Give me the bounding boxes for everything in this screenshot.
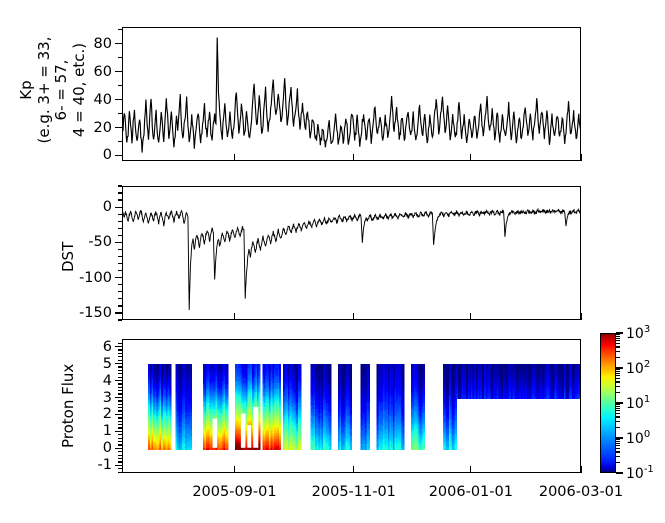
proton-flux-data-gap (213, 419, 218, 448)
pf-ytick-minor (118, 441, 122, 442)
dst-ytick-major-1 (115, 242, 122, 243)
pf-ytick-minor (118, 421, 122, 422)
colorbar-tick-minor (616, 334, 620, 335)
dst-plot-panel (122, 186, 581, 320)
colorbar-tick-minor (616, 386, 620, 387)
kp-ytick-label-1: 20 (72, 120, 112, 135)
proton-flux-plot-panel (122, 339, 581, 473)
dst-ytick-minor (118, 228, 122, 229)
dst-ytick-label-1: -50 (72, 235, 112, 250)
xtick-label-1: 2005-11-01 (312, 485, 396, 500)
dst-series-line (123, 187, 580, 319)
dst-xtick-3 (580, 313, 581, 320)
proton-flux-spectrogram (123, 340, 580, 472)
kp-ytick-minor (118, 57, 122, 58)
colorbar-tick-minor (616, 373, 620, 374)
pf-ytick-minor (118, 404, 122, 405)
colorbar-tick-minor (616, 336, 620, 337)
colorbar-tick-minor (616, 338, 620, 339)
colorbar-tick-minor (616, 416, 620, 417)
pf-ytick-label-7: -1 (72, 458, 112, 473)
proton-flux-data-gap (253, 407, 258, 448)
kp-ytick-major-4 (115, 43, 122, 44)
dst-ytick-minor (118, 284, 122, 285)
pf-ytick-major-0 (115, 346, 122, 347)
pf-ytick-minor (118, 407, 122, 408)
kp-axis-title-line-2: (e.g. 3+ = 33, (36, 20, 54, 160)
pf-ytick-minor (118, 458, 122, 459)
proton-flux-column (148, 364, 171, 450)
kp-xtick-0 (234, 154, 235, 161)
colorbar-tick-minor (616, 392, 620, 393)
pf-ytick-minor (118, 472, 122, 473)
pf-ytick-minor (118, 400, 122, 401)
colorbar-tick-minor (616, 351, 620, 352)
colorbar-tick-minor (616, 369, 620, 370)
pf-ytick-major-7 (115, 465, 122, 466)
colorbar-tick-label-4: 103 (626, 325, 650, 341)
colorbar-tick-label-2: 101 (626, 395, 650, 411)
colorbar-tick-minor (616, 462, 620, 463)
dst-ytick-label-2: -100 (72, 270, 112, 285)
dst-xtick-2 (470, 313, 471, 320)
kp-ytick-minor (118, 141, 122, 142)
pf-ytick-minor (118, 383, 122, 384)
dst-ytick-minor (118, 256, 122, 257)
pf-ytick-minor (118, 424, 122, 425)
dst-ytick-minor (118, 199, 122, 200)
proton-flux-column (262, 364, 281, 450)
xtick-label-0: 2005-09-01 (192, 485, 276, 500)
proton-flux-column (411, 364, 425, 450)
dst-ytick-minor (118, 214, 122, 215)
pf-ytick-major-3 (115, 397, 122, 398)
kp-ytick-major-1 (115, 127, 122, 128)
dst-ytick-minor (118, 305, 122, 306)
colorbar-tick-minor (616, 343, 620, 344)
kp-ytick-label-2: 40 (72, 92, 112, 107)
colorbar-tick-minor (616, 378, 620, 379)
pf-ytick-minor (118, 370, 122, 371)
pf-ytick-minor (118, 366, 122, 367)
kp-ytick-major-2 (115, 99, 122, 100)
colorbar-tick-minor (616, 381, 620, 382)
colorbar-tick-minor (616, 375, 620, 376)
pf-ytick-label-0: 6 (72, 339, 112, 354)
colorbar-tick-minor (616, 371, 620, 372)
colorbar-tick-minor (616, 427, 620, 428)
proton-flux-column (176, 364, 192, 450)
pf-xtick-1 (353, 466, 354, 473)
kp-ytick-minor (118, 29, 122, 30)
dst-ytick-minor (118, 185, 122, 186)
colorbar-tick-minor (616, 406, 620, 407)
dst-ytick-minor (118, 263, 122, 264)
proton-flux-column (283, 364, 302, 450)
colorbar-tick-minor (616, 456, 620, 457)
pf-ytick-minor (118, 356, 122, 357)
proton-flux-column (361, 364, 371, 450)
dst-ytick-major-3 (115, 312, 122, 313)
pf-ytick-label-3: 3 (72, 390, 112, 405)
colorbar-tick-minor (616, 346, 620, 347)
colorbar-tick-minor (616, 421, 620, 422)
kp-axis-title-line-1: Kp (18, 20, 36, 160)
dst-trace (123, 209, 580, 310)
dst-ytick-label-0: 0 (72, 200, 112, 215)
colorbar-tick-minor (616, 443, 620, 444)
pf-ytick-minor (118, 438, 122, 439)
proton-flux-column (310, 364, 331, 450)
colorbar-tick-minor (616, 413, 620, 414)
pf-ytick-label-2: 4 (72, 373, 112, 388)
pf-ytick-major-2 (115, 380, 122, 381)
dst-xtick-1 (353, 313, 354, 320)
dst-ytick-major-0 (115, 207, 122, 208)
kp-xtick-2 (470, 154, 471, 161)
pf-xtick-2 (470, 466, 471, 473)
pf-ytick-minor (118, 377, 122, 378)
pf-ytick-minor (118, 444, 122, 445)
kp-ytick-label-3: 60 (72, 64, 112, 79)
pf-ytick-minor (118, 393, 122, 394)
kp-xtick-1 (353, 154, 354, 161)
pf-ytick-minor (118, 461, 122, 462)
pf-xtick-0 (234, 466, 235, 473)
colorbar-tick-label-1: 100 (626, 430, 650, 446)
proton-flux-column (377, 364, 405, 450)
pf-ytick-minor (118, 360, 122, 361)
pf-ytick-major-1 (115, 363, 122, 364)
colorbar-tick-minor (616, 451, 620, 452)
pf-ytick-minor (118, 468, 122, 469)
kp-trace (123, 38, 580, 153)
colorbar-tick-label-0: 10-1 (626, 465, 654, 481)
xtick-label-3: 2006-03-01 (539, 485, 623, 500)
colorbar-tick-minor (616, 357, 620, 358)
pf-ytick-label-6: 0 (72, 441, 112, 456)
pf-ytick-label-1: 5 (72, 356, 112, 371)
kp-ytick-minor (118, 85, 122, 86)
proton-flux-column (443, 364, 457, 450)
dst-ytick-minor (118, 270, 122, 271)
pf-ytick-minor (118, 390, 122, 391)
kp-ytick-major-3 (115, 71, 122, 72)
dst-ytick-minor (118, 235, 122, 236)
pf-ytick-major-4 (115, 414, 122, 415)
proton-flux-column (457, 364, 580, 399)
pf-ytick-minor (118, 387, 122, 388)
pf-ytick-minor (118, 410, 122, 411)
kp-ytick-major-0 (115, 155, 122, 156)
xtick-label-2: 2006-01-01 (429, 485, 513, 500)
dst-xtick-0 (234, 313, 235, 320)
pf-ytick-label-4: 2 (72, 407, 112, 422)
colorbar-tick-minor (616, 410, 620, 411)
colorbar-tick-label-3: 102 (626, 360, 650, 376)
dst-ytick-minor (118, 249, 122, 250)
colorbar (600, 333, 616, 473)
proton-flux-data-gap (241, 414, 246, 448)
kp-ytick-minor (118, 113, 122, 114)
dst-ytick-minor (118, 221, 122, 222)
dst-ytick-minor (118, 319, 122, 320)
colorbar-tick-minor (616, 408, 620, 409)
colorbar-tick-minor (616, 448, 620, 449)
pf-ytick-minor (118, 417, 122, 418)
dst-ytick-minor (118, 298, 122, 299)
pf-ytick-label-5: 1 (72, 424, 112, 439)
dst-ytick-major-2 (115, 277, 122, 278)
pf-ytick-minor (118, 455, 122, 456)
colorbar-tick-minor (616, 404, 620, 405)
pf-ytick-minor (118, 343, 122, 344)
pf-ytick-minor (118, 434, 122, 435)
dst-ytick-minor (118, 192, 122, 193)
kp-plot-panel (122, 27, 581, 161)
proton-flux-data-gap (247, 425, 251, 448)
dst-ytick-label-3: -150 (72, 306, 112, 321)
kp-xtick-3 (580, 154, 581, 161)
kp-ytick-label-0: 0 (72, 148, 112, 163)
pf-ytick-minor (118, 353, 122, 354)
pf-ytick-major-6 (115, 448, 122, 449)
colorbar-tick-major-0 (616, 472, 623, 473)
kp-ytick-label-4: 80 (72, 37, 112, 52)
kp-axis-title-line-3: 6- = 57, (53, 20, 71, 160)
pf-ytick-minor (118, 427, 122, 428)
pf-ytick-minor (118, 373, 122, 374)
proton-flux-column (338, 364, 352, 450)
colorbar-tick-minor (616, 340, 620, 341)
colorbar-gradient (600, 333, 616, 473)
figure-canvas: Kp (e.g. 3+ = 33, 6- = 57, 4 = 40, etc.)… (0, 0, 665, 523)
pf-ytick-major-5 (115, 431, 122, 432)
colorbar-tick-minor (616, 439, 620, 440)
kp-series-line (123, 28, 580, 160)
pf-ytick-minor (118, 349, 122, 350)
dst-ytick-minor (118, 291, 122, 292)
pf-xtick-3 (580, 466, 581, 473)
pf-ytick-minor (118, 451, 122, 452)
colorbar-tick-minor (616, 441, 620, 442)
colorbar-tick-minor (616, 445, 620, 446)
